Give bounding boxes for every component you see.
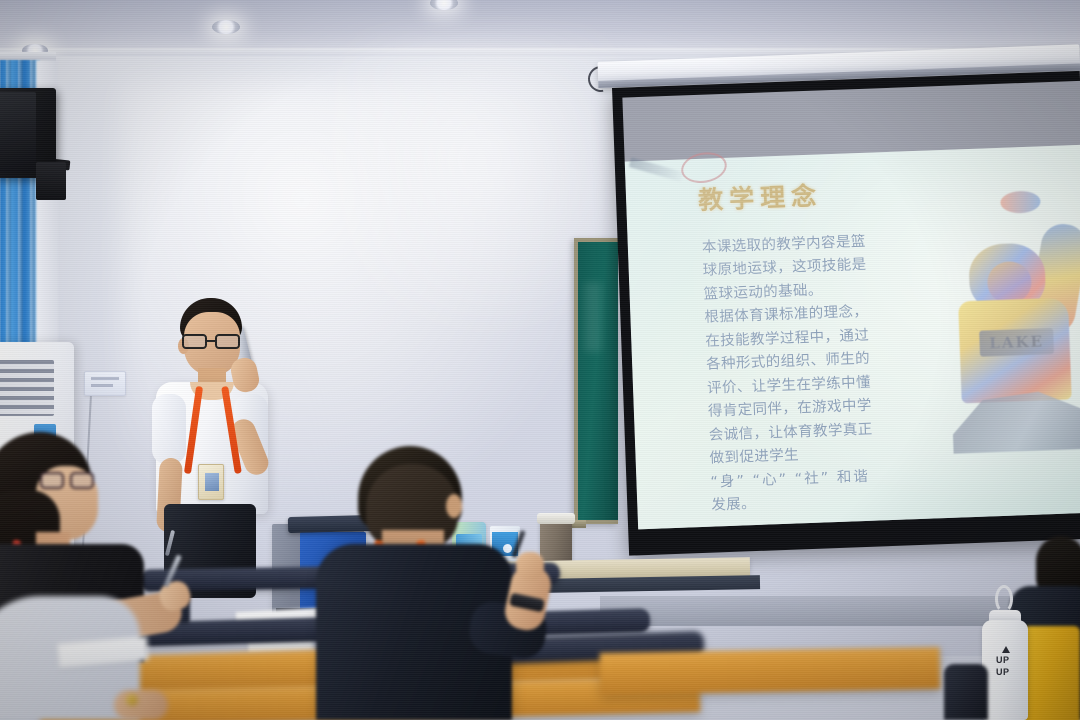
man-ear <box>446 494 462 518</box>
wall-placard <box>84 371 126 396</box>
seated-man <box>320 446 550 720</box>
dark-foreground-object <box>944 664 988 720</box>
bottle-text: UPUP <box>996 654 1018 678</box>
ceiling-downlight-2 <box>212 20 240 34</box>
player-jersey-text: LAKE <box>979 328 1054 357</box>
desk-surface-right <box>600 647 941 695</box>
basketball-player-popart-image: LAKE <box>940 189 1080 484</box>
glasses-icon <box>182 334 244 349</box>
slide-title: 教学理念 <box>697 176 822 217</box>
speaker-grille <box>0 92 36 172</box>
projection-screen-frame: 教学理念 本课选取的教学内容是篮 球原地运球，这项技能是 篮球运动的基础。 根据… <box>612 71 1080 556</box>
speaker-bracket <box>36 162 66 200</box>
right-person-yellow-garment <box>1020 626 1080 720</box>
green-chalkboard <box>574 238 618 524</box>
basketball-icon <box>1000 190 1041 213</box>
bottle-carry-loop <box>995 585 1013 613</box>
foreground-hand <box>114 690 168 720</box>
presenter-id-badge <box>198 464 224 500</box>
presentation-slide: 教学理念 本课选取的教学内容是篮 球原地运球，这项技能是 篮球运动的基础。 根据… <box>625 145 1080 530</box>
bottle-arrow-icon <box>1002 646 1010 653</box>
chalk-smudge <box>584 282 602 352</box>
man-hand <box>516 552 544 580</box>
slide-body-text: 本课选取的教学内容是篮 球原地运球，这项技能是 篮球运动的基础。 根据体育课标准… <box>702 229 926 518</box>
presenter-lanyard <box>190 386 236 474</box>
glasses-icon <box>40 472 96 489</box>
ac-vent-grille <box>0 360 54 416</box>
projection-screen-surface: 教学理念 本课选取的教学内容是篮 球原地运球，这项技能是 篮球运动的基础。 根据… <box>622 81 1080 529</box>
foreground-ring <box>126 694 138 706</box>
classroom-photo: 教学理念 本课选取的教学内容是篮 球原地运球，这项技能是 篮球运动的基础。 根据… <box>0 0 1080 720</box>
